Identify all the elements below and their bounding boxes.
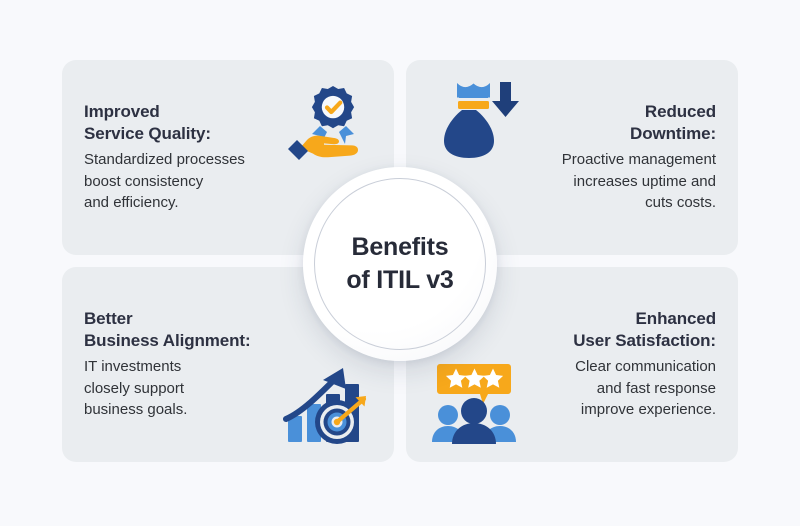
card-title: Better Business Alignment: [84,308,270,352]
card-title: Enhanced User Satisfaction: [530,308,716,352]
card-text-block: Reduced Downtime: Proactive management i… [530,101,716,214]
card-text-block: Better Business Alignment: IT investment… [84,308,270,421]
card-body: Standardized processes boost consistency… [84,149,270,214]
card-body: Clear communication and fast response im… [530,356,716,421]
card-text-block: Improved Service Quality: Standardized p… [84,101,270,214]
card-body: IT investments closely support business … [84,356,270,421]
infographic-canvas: Improved Service Quality: Standardized p… [0,0,800,526]
card-body: Proactive management increases uptime an… [530,149,716,214]
center-hub: Benefits of ITIL v3 [303,167,497,361]
hand-holding-quality-badge-icon [280,76,372,168]
card-title: Reduced Downtime: [530,101,716,145]
card-title: Improved Service Quality: [84,101,270,145]
growth-chart-target-icon [280,356,372,448]
page-title: Benefits of ITIL v3 [346,231,453,297]
people-star-rating-icon [428,354,520,446]
money-bag-down-arrow-icon [428,72,520,164]
card-text-block: Enhanced User Satisfaction: Clear commun… [530,308,716,421]
